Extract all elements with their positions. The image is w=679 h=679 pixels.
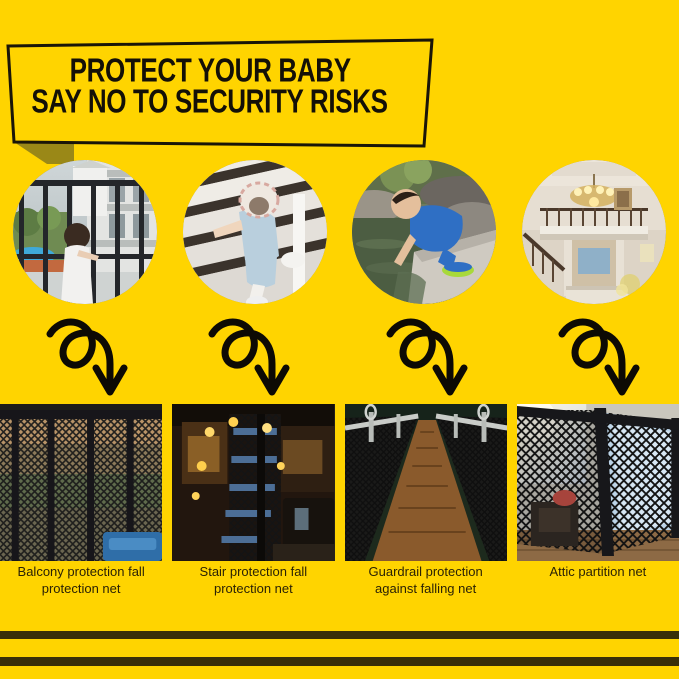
- caption-balcony-protection-net: Balcony protection fall protection net: [0, 563, 162, 611]
- hazard-photo-balcony-railing: [13, 160, 157, 304]
- balcony-railing-image: [13, 160, 157, 304]
- product-infographic-poster: PROTECT YOUR BABY SAY NO TO SECURITY RIS…: [0, 0, 679, 679]
- curly-down-arrow-glyph: [556, 312, 648, 400]
- caption-guardrail-protection-net: Guardrail protection against falling net: [345, 563, 507, 611]
- hazard-photo-stair-climbing: [183, 160, 327, 304]
- balcony-net-image: [0, 404, 162, 561]
- product-photo-balcony-net: [0, 404, 162, 561]
- curly-down-arrow-icon-1: [44, 312, 136, 400]
- caption-stair-protection-net: Stair protection fall protection net: [172, 563, 334, 611]
- water-edge-image: [352, 160, 496, 304]
- banner-text-block: PROTECT YOUR BABY SAY NO TO SECURITY RIS…: [0, 32, 420, 142]
- footer-stripe-lower: [0, 657, 679, 666]
- footer-stripe-upper: [0, 631, 679, 639]
- curly-down-arrow-glyph: [44, 312, 136, 400]
- product-photo-attic-net: [517, 404, 679, 561]
- caption-attic-partition-net: Attic partition net: [517, 563, 679, 611]
- stair-climbing-image: [183, 160, 327, 304]
- curly-down-arrow-glyph: [384, 312, 476, 400]
- hazard-photo-row: [0, 158, 679, 306]
- product-photo-guardrail-net: [345, 404, 507, 561]
- arrow-row: [0, 312, 679, 400]
- curly-down-arrow-icon-2: [206, 312, 298, 400]
- curly-down-arrow-glyph: [206, 312, 298, 400]
- product-photo-stair-net: [172, 404, 334, 561]
- header-banner: PROTECT YOUR BABY SAY NO TO SECURITY RIS…: [0, 32, 440, 164]
- attic-net-image: [517, 404, 679, 561]
- banner-headline-2: SAY NO TO SECURITY RISKS: [32, 85, 388, 119]
- loft-mezzanine-image: [522, 160, 666, 304]
- curly-down-arrow-icon-3: [384, 312, 476, 400]
- stair-net-image: [172, 404, 334, 561]
- product-photo-row: [0, 404, 679, 561]
- hazard-photo-water-edge: [352, 160, 496, 304]
- product-caption-row: Balcony protection fall protection net S…: [0, 563, 679, 611]
- curly-down-arrow-icon-4: [556, 312, 648, 400]
- guardrail-net-image: [345, 404, 507, 561]
- hazard-photo-loft-mezzanine: [522, 160, 666, 304]
